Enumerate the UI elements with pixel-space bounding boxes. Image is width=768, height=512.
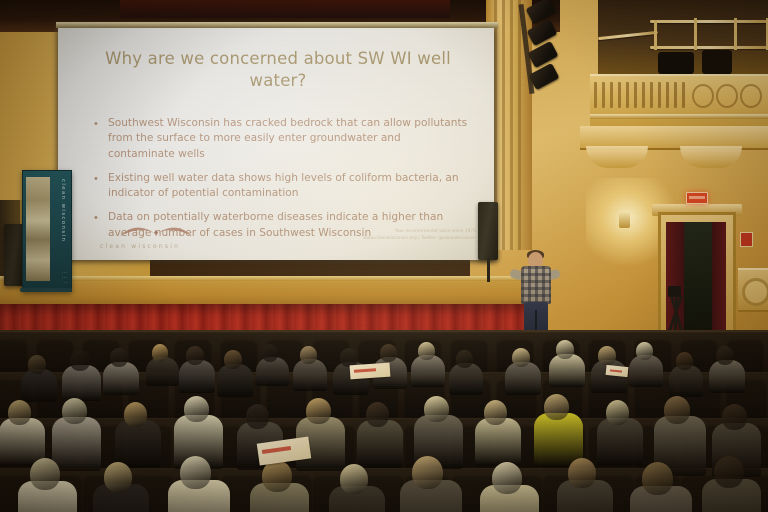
audience-member-head (418, 342, 435, 360)
doorway-curtain-right (712, 222, 726, 334)
audience-member-head (110, 348, 128, 367)
audience-member-head (676, 352, 693, 370)
banner-photo-strip (26, 177, 50, 281)
audience-member-torso (357, 420, 403, 468)
bullet-dot-icon: • (94, 116, 108, 162)
audience-member-torso (115, 420, 161, 468)
pa-speaker-icon (478, 202, 498, 260)
banner-subtext: - - -- - -- - (49, 270, 67, 285)
slide-logo-wordmark: clean wisconsin (100, 243, 250, 250)
audience-member-head (152, 344, 168, 362)
audience-member-head (606, 400, 629, 425)
audience-member-head (568, 458, 596, 488)
wall-sconce-icon (619, 212, 630, 228)
slide-bullet-text: Southwest Wisconsin has cracked bedrock … (108, 116, 470, 162)
slide-title: Why are we concerned about SW WI well wa… (82, 48, 474, 93)
ceiling-red-band (120, 0, 450, 18)
audience-member-head (262, 460, 292, 492)
slide-bullet-text: Existing well water data shows high leve… (108, 171, 470, 202)
audience-member-head (512, 348, 530, 367)
slide-footer-line: Your environmental voice since 1970 (363, 228, 476, 235)
audience-member-head (412, 456, 443, 489)
audience-member-head (70, 350, 90, 371)
audience-member-head (716, 346, 734, 365)
banner-base (20, 288, 72, 292)
theater-seat (0, 338, 28, 374)
audience-member-head (456, 350, 473, 368)
stage-apron-trim (0, 276, 530, 281)
slide-footer-line: www.cleanwisconsin.org | Twitter: @clean… (363, 235, 476, 242)
bird-wings-logo-icon (118, 224, 194, 240)
exit-sign-icon (686, 192, 708, 204)
presentation-photo-scene: Why are we concerned about SW WI well wa… (0, 0, 768, 512)
audience-member-head (184, 396, 209, 422)
audience-member-head (62, 398, 87, 424)
audience-member-head (224, 350, 242, 369)
audience-member-torso (52, 417, 101, 471)
audience-member-head (544, 394, 569, 420)
audience-member-head (246, 404, 269, 429)
audience-member-head (306, 398, 331, 424)
audience-member-head (30, 458, 60, 490)
audience-member-head (8, 400, 31, 425)
fire-alarm-icon (740, 232, 753, 247)
audience-member-head (598, 346, 616, 365)
audience-member-torso (597, 418, 643, 466)
wall-panel-decoration (738, 268, 768, 312)
audience-member-torso (475, 418, 521, 466)
audience-member-head (366, 402, 389, 427)
roll-up-banner: clean wisconsin - - -- - -- - (22, 170, 72, 292)
audience-member-head (180, 456, 211, 489)
banner-vertical-text: clean wisconsin (52, 179, 66, 253)
audience-member-head (262, 344, 278, 362)
projection-screen: Why are we concerned about SW WI well wa… (58, 28, 494, 260)
slide-bullet-item: • Existing well water data shows high le… (94, 171, 470, 202)
audience-member-head (556, 340, 574, 359)
audience-member-head (714, 456, 744, 488)
audience-member-head (340, 464, 368, 494)
pa-speaker-stand (487, 258, 490, 282)
audience-member-head (484, 400, 507, 425)
bullet-dot-icon: • (94, 171, 108, 202)
balcony-frieze (590, 74, 768, 132)
audience-member-head (424, 396, 449, 422)
audience-member-head (380, 344, 397, 362)
audience-member-head (636, 342, 653, 360)
slide-bullet-item: • Southwest Wisconsin has cracked bedroc… (94, 116, 470, 162)
slide-footer: Your environmental voice since 1970 www.… (363, 228, 476, 243)
presenter-plaid-shirt (521, 266, 551, 304)
audience-member-head (186, 346, 204, 365)
audience-member-head (28, 355, 46, 374)
audience-member-head (492, 462, 522, 494)
audience-member-head (722, 404, 747, 430)
upper-balcony (598, 0, 768, 76)
audience-member-head (124, 402, 147, 427)
audience-member-head (104, 462, 132, 492)
audience-member-head (300, 346, 317, 364)
audience-member-head (642, 462, 673, 495)
slide-logo: clean wisconsin (100, 224, 250, 250)
audience-member-head (664, 396, 690, 424)
